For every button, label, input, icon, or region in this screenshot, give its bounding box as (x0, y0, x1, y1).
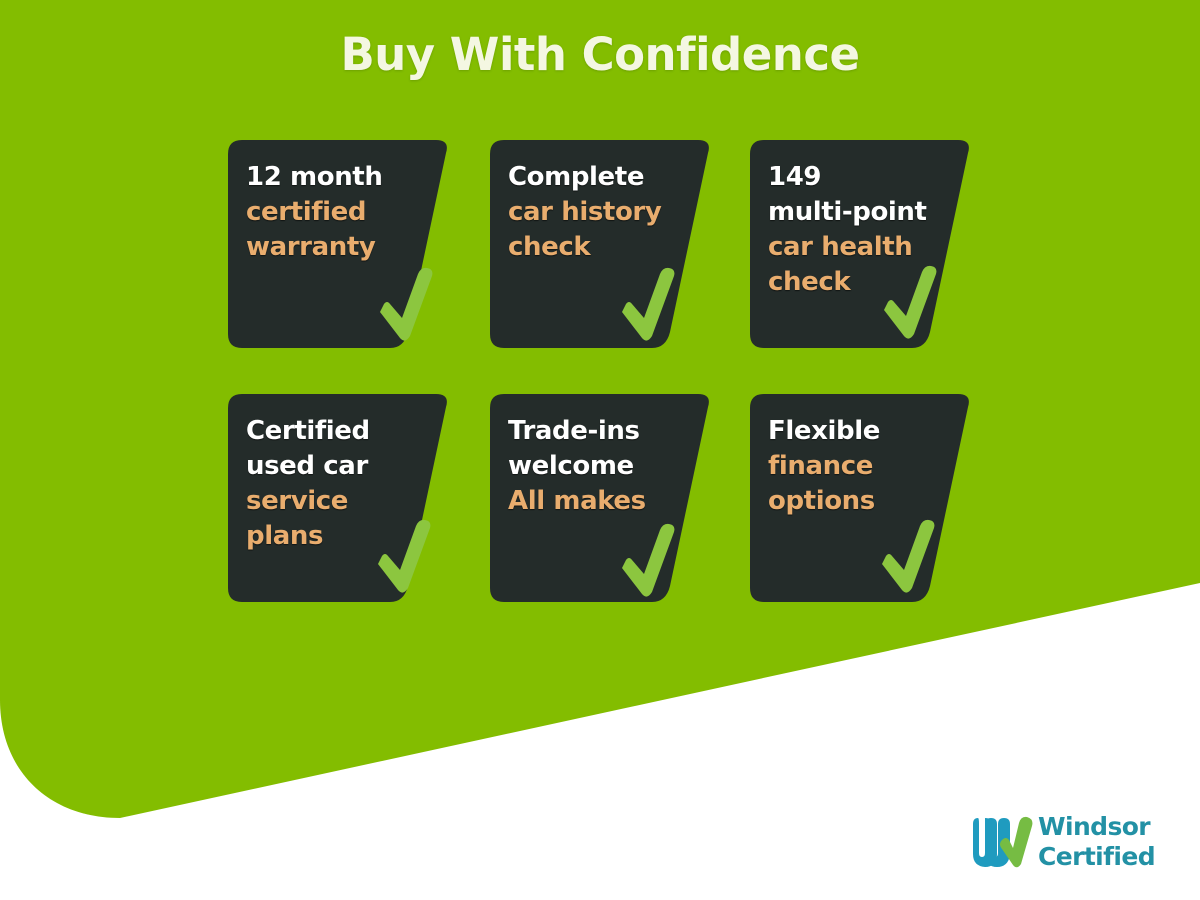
card-line: certified (246, 195, 432, 230)
windsor-w-mark-icon (972, 814, 1034, 872)
card-line: multi-point (768, 195, 954, 230)
feature-card[interactable]: Trade-ins welcome All makes (490, 394, 712, 602)
feature-card[interactable]: Certified used car service plans (228, 394, 450, 602)
card-line: welcome (508, 449, 694, 484)
feature-card[interactable]: 12 month certified warranty (228, 140, 450, 348)
logo-wordmark: Windsor Certified (1038, 812, 1162, 872)
check-icon (878, 518, 938, 594)
card-line: check (508, 230, 694, 265)
feature-card-grid: 12 month certified warranty Complete car… (0, 0, 1200, 900)
card-line: service (246, 484, 432, 519)
card-text: Trade-ins welcome All makes (508, 414, 694, 519)
feature-card[interactable]: Complete car history check (490, 140, 712, 348)
card-line: Complete (508, 160, 694, 195)
card-line: All makes (508, 484, 694, 519)
check-icon (374, 518, 434, 594)
check-icon (880, 264, 940, 340)
card-line: options (768, 484, 954, 519)
card-line: 12 month (246, 160, 432, 195)
page-title: Buy With Confidence (0, 28, 1200, 81)
card-line: Flexible (768, 414, 954, 449)
check-icon (376, 266, 436, 342)
logo-line-1: Windsor (1038, 812, 1162, 842)
card-text: Complete car history check (508, 160, 694, 265)
card-line: Certified (246, 414, 432, 449)
card-line: car history (508, 195, 694, 230)
infographic-root: Buy With Confidence 12 month certified w… (0, 0, 1200, 900)
card-line: used car (246, 449, 432, 484)
card-line: finance (768, 449, 954, 484)
feature-card[interactable]: Flexible finance options (750, 394, 972, 602)
feature-card[interactable]: 149 multi-point car health check (750, 140, 972, 348)
check-icon (618, 522, 678, 598)
card-line: warranty (246, 230, 432, 265)
card-text: 12 month certified warranty (246, 160, 432, 265)
card-text: Flexible finance options (768, 414, 954, 519)
check-icon (618, 266, 678, 342)
card-line: car health (768, 230, 954, 265)
windsor-certified-logo[interactable]: Windsor Certified (972, 812, 1162, 876)
logo-line-2: Certified (1038, 842, 1162, 872)
card-line: Trade-ins (508, 414, 694, 449)
card-line: 149 (768, 160, 954, 195)
